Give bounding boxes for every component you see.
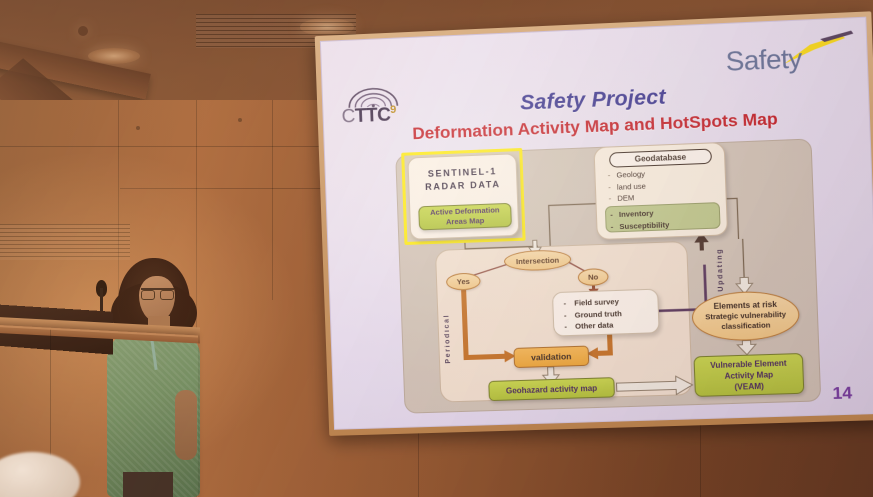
geohazard-activity-map-box: Geohazard activity map: [488, 377, 615, 401]
veam-line-2: Activity Map: [724, 369, 773, 382]
wall-bolt-icon: [238, 118, 242, 122]
bullet-dash: -: [564, 309, 567, 321]
workflow-diagram: Periodical Periodical Updating: [395, 138, 821, 413]
bullet-dash: -: [608, 170, 611, 182]
ceiling-fixture-icon: [78, 26, 88, 36]
conference-room-scene: CTTC9 Safety Safety Project Deformation …: [0, 0, 873, 497]
bullet-dash: -: [608, 181, 611, 193]
validation-box: validation: [513, 346, 589, 369]
veam-box: Vulnerable Element Activity Map (VEAM): [693, 353, 804, 397]
bullet-dash: -: [610, 209, 613, 221]
geodatabase-box: Geodatabase -Geology -land use -DEM -Ele…: [593, 142, 728, 240]
geodatabase-item-1: land use: [617, 180, 646, 193]
bullet-dash: -: [608, 193, 611, 205]
elements-at-risk-line-2: classification: [721, 320, 770, 332]
sentinel-line-2: RADAR DATA: [409, 177, 516, 194]
bullet-dash: -: [564, 321, 567, 333]
bullet-dash: -: [563, 298, 566, 310]
active-deformation-areas-map-box: Active Deformation Areas Map: [418, 203, 512, 231]
geodatabase-highlighted-list: -Inventory -Susceptibility: [605, 202, 721, 233]
safety-logo: Safety: [725, 35, 851, 83]
projection-screen: CTTC9 Safety Safety Project Deformation …: [315, 11, 873, 436]
sentinel-label: SENTINEL-1 RADAR DATA: [409, 164, 517, 194]
slide-page-number: 14: [832, 383, 852, 404]
glasses-icon: [141, 288, 174, 296]
presentation-slide: CTTC9 Safety Safety Project Deformation …: [320, 17, 873, 430]
wall-seam: [0, 146, 320, 147]
sentinel-radar-data-box: SENTINEL-1 RADAR DATA Active Deformation…: [407, 153, 519, 240]
field-data-box: -Field survey -Ground truth -Other data: [552, 289, 660, 337]
safety-wordmark: Safety: [725, 43, 802, 78]
field-item-2: Other data: [575, 319, 614, 332]
wall-bolt-icon: [136, 126, 140, 130]
field-item-1: Ground truth: [574, 308, 622, 321]
list-item: -Other data: [564, 318, 658, 333]
bullet-dash: -: [610, 221, 613, 233]
geodatabase-highlight-1: Susceptibility: [619, 219, 669, 232]
wall-seam: [272, 100, 273, 300]
veam-line-3: (VEAM): [734, 380, 764, 392]
geodatabase-title: Geodatabase: [609, 149, 712, 168]
geodatabase-item-2: DEM: [617, 192, 634, 204]
